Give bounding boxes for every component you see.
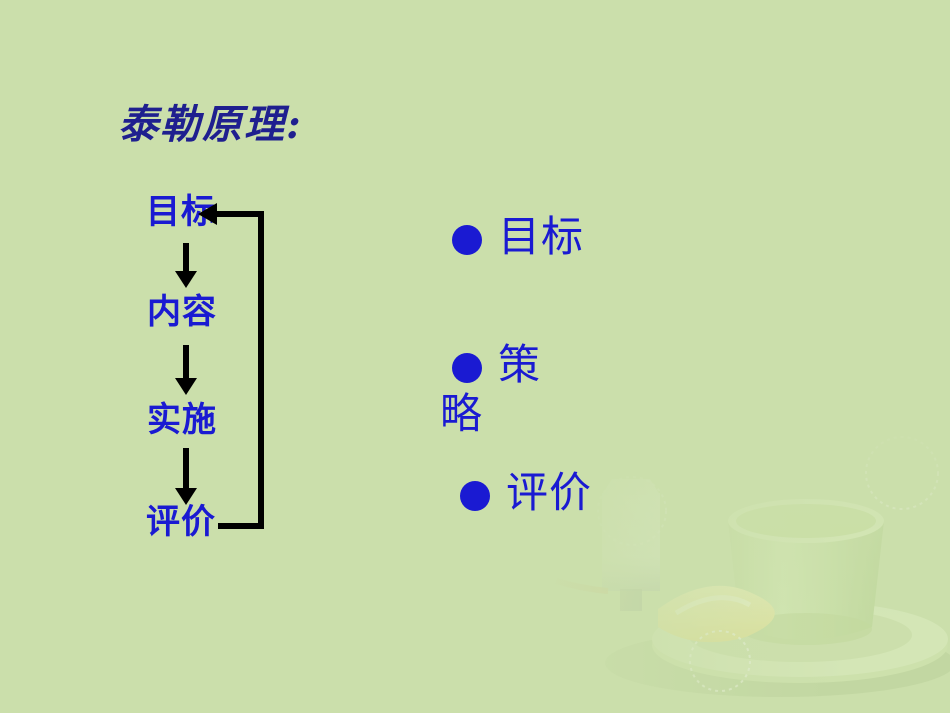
slide-canvas: 泰勒原理: 目标 内容 实施 评价 目标 策 略 [0,0,950,713]
bullet-circle-icon [452,225,482,255]
list-item-label: 评价 [506,471,592,515]
flow-node-evaluation: 评价 [146,505,216,539]
flowchart: 目标 内容 实施 评价 [120,185,310,555]
list-item: 评价 [460,471,592,515]
flow-node-content: 内容 [147,295,217,329]
feedback-loop-right-segment [258,211,264,529]
flow-node-implementation: 实施 [147,403,217,437]
arrow-down-icon [175,345,197,397]
list-item-label: 策 [498,343,541,387]
bullet-circle-icon [452,353,482,383]
teacup-photo [550,413,950,713]
arrow-left-icon [198,203,217,225]
arrow-down-icon [175,448,197,506]
list-item-label-wrapped: 略 [440,393,483,435]
list-item-label: 目标 [498,215,584,259]
page-title: 泰勒原理: [118,92,303,150]
list-item: 目标 [452,215,584,259]
bullet-circle-icon [460,481,490,511]
arrow-down-icon [175,243,197,289]
feedback-loop-top-segment [216,211,264,217]
list-item: 策 [452,343,541,387]
